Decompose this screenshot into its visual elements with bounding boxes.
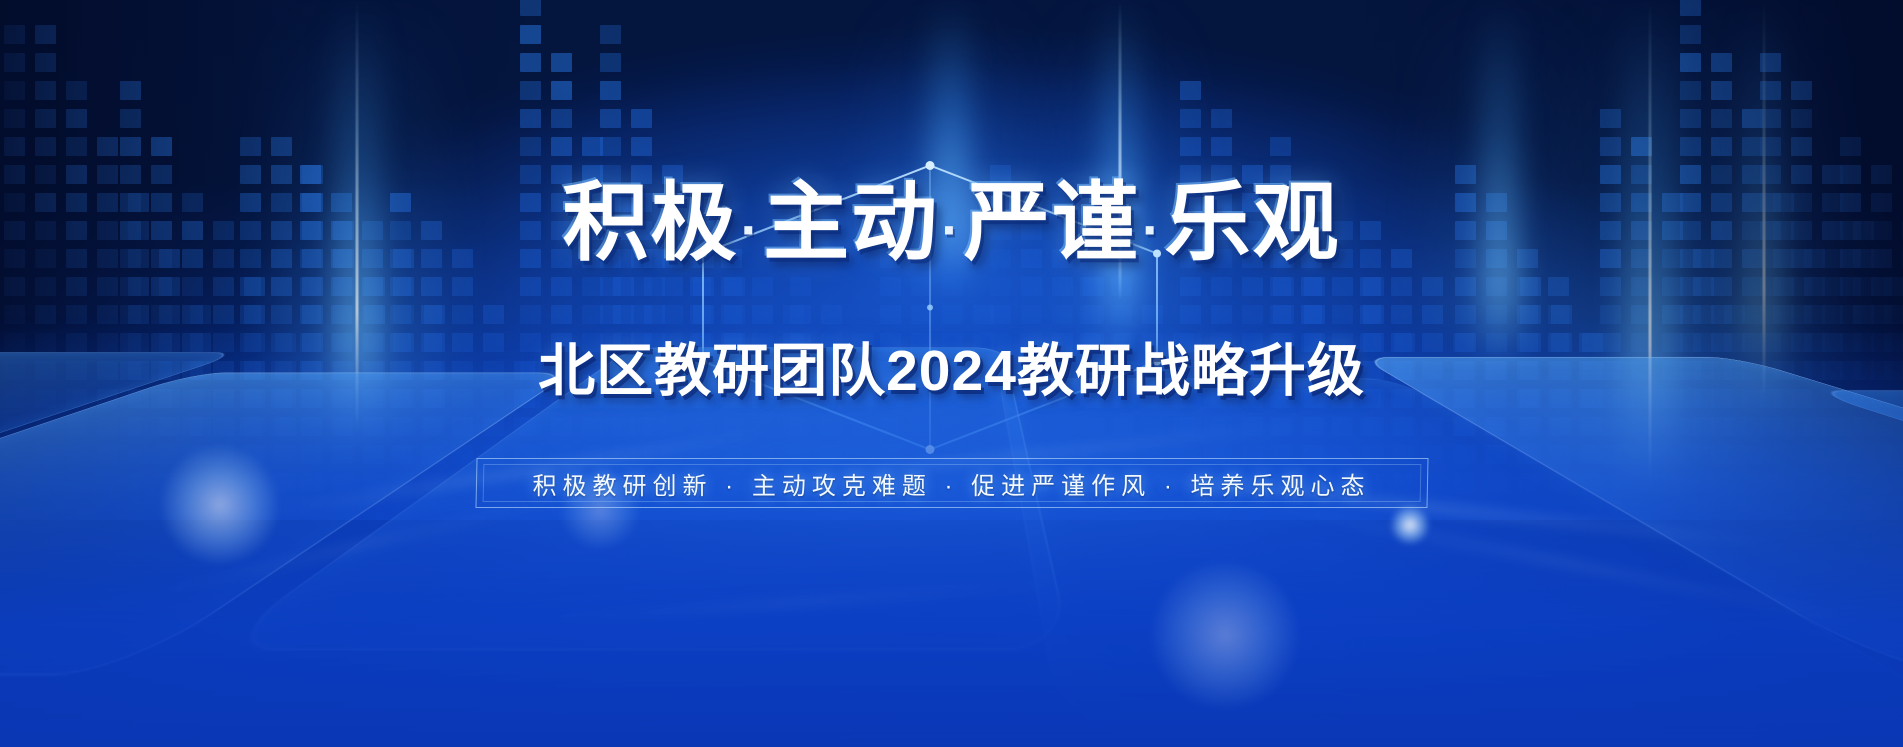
headline-word-4: 乐观 — [1164, 175, 1340, 271]
banner-content: 积极·主动·严谨·乐观 北区教研团队2024教研战略升级 积极教研创新 · 主动… — [0, 0, 1903, 747]
banner-stage: 积极·主动·严谨·乐观 北区教研团队2024教研战略升级 积极教研创新 · 主动… — [0, 0, 1903, 747]
headline-word-3: 严谨 — [964, 175, 1140, 271]
page-title: 积极·主动·严谨·乐观 — [563, 178, 1341, 269]
headline-word-2: 主动 — [763, 175, 939, 271]
headline-separator-2: · — [941, 198, 962, 261]
headline-separator-3: · — [1142, 198, 1163, 261]
headline-word-1: 积极 — [563, 175, 739, 271]
tagline-container: 积极教研创新 · 主动攻克难题 · 促进严谨作风 · 培养乐观心态 — [476, 458, 1428, 508]
tagline-text: 积极教研创新 · 主动攻克难题 · 促进严谨作风 · 培养乐观心态 — [476, 458, 1428, 508]
headline-separator-1: · — [741, 198, 762, 261]
page-subtitle: 北区教研团队2024教研战略升级 — [538, 325, 1365, 407]
